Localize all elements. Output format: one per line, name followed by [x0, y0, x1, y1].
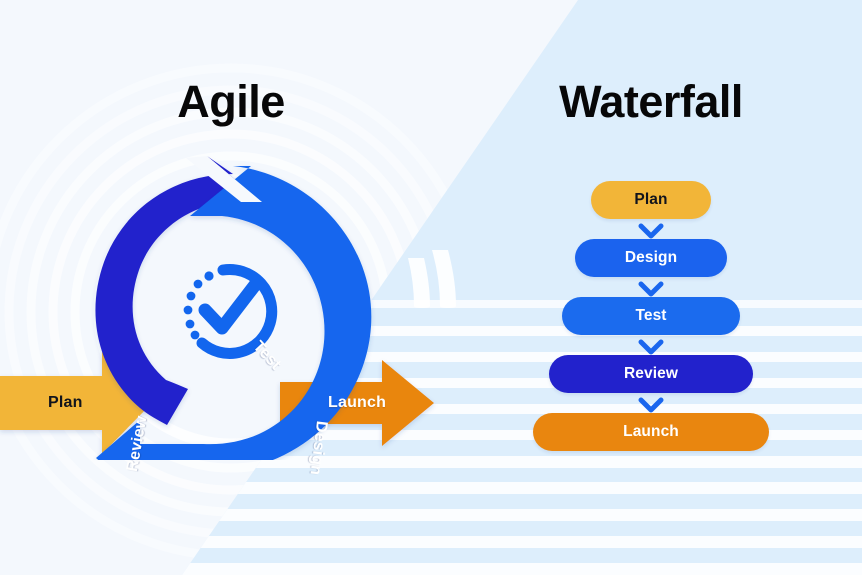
waterfall-step-review-label: Review: [624, 365, 678, 383]
waterfall-step-design-row: Design: [430, 239, 862, 277]
agile-launch-label: Launch: [328, 394, 386, 412]
agile-plan-label: Plan: [48, 394, 83, 412]
waterfall-diagram: Plan Design Test: [430, 170, 862, 460]
waterfall-step-plan[interactable]: Plan: [591, 181, 711, 219]
chevron-down-icon: [638, 396, 664, 414]
agile-cycle-graphic: [0, 140, 462, 460]
agile-cycle-diagram: Test Design Review: [0, 140, 462, 460]
waterfall-step-review[interactable]: Review: [549, 355, 753, 393]
waterfall-step-test[interactable]: Test: [562, 297, 740, 335]
chevron-down-icon: [638, 222, 664, 240]
waterfall-step-design-label: Design: [625, 249, 677, 267]
chevron-down-icon: [638, 338, 664, 356]
waterfall-step-review-row: Review: [430, 355, 862, 393]
page-title-waterfall: Waterfall: [430, 74, 862, 130]
waterfall-step-test-row: Test: [430, 297, 862, 335]
waterfall-step-design[interactable]: Design: [575, 239, 727, 277]
infographic-canvas: Agile Waterfall: [0, 0, 862, 575]
waterfall-step-launch-row: Launch: [430, 413, 862, 451]
waterfall-step-plan-label: Plan: [634, 191, 667, 209]
chevron-down-icon: [638, 280, 664, 298]
page-title-agile: Agile: [0, 74, 462, 130]
waterfall-step-test-label: Test: [635, 307, 666, 325]
waterfall-step-plan-row: Plan: [430, 181, 862, 219]
waterfall-step-launch[interactable]: Launch: [533, 413, 769, 451]
waterfall-step-launch-label: Launch: [623, 423, 679, 441]
